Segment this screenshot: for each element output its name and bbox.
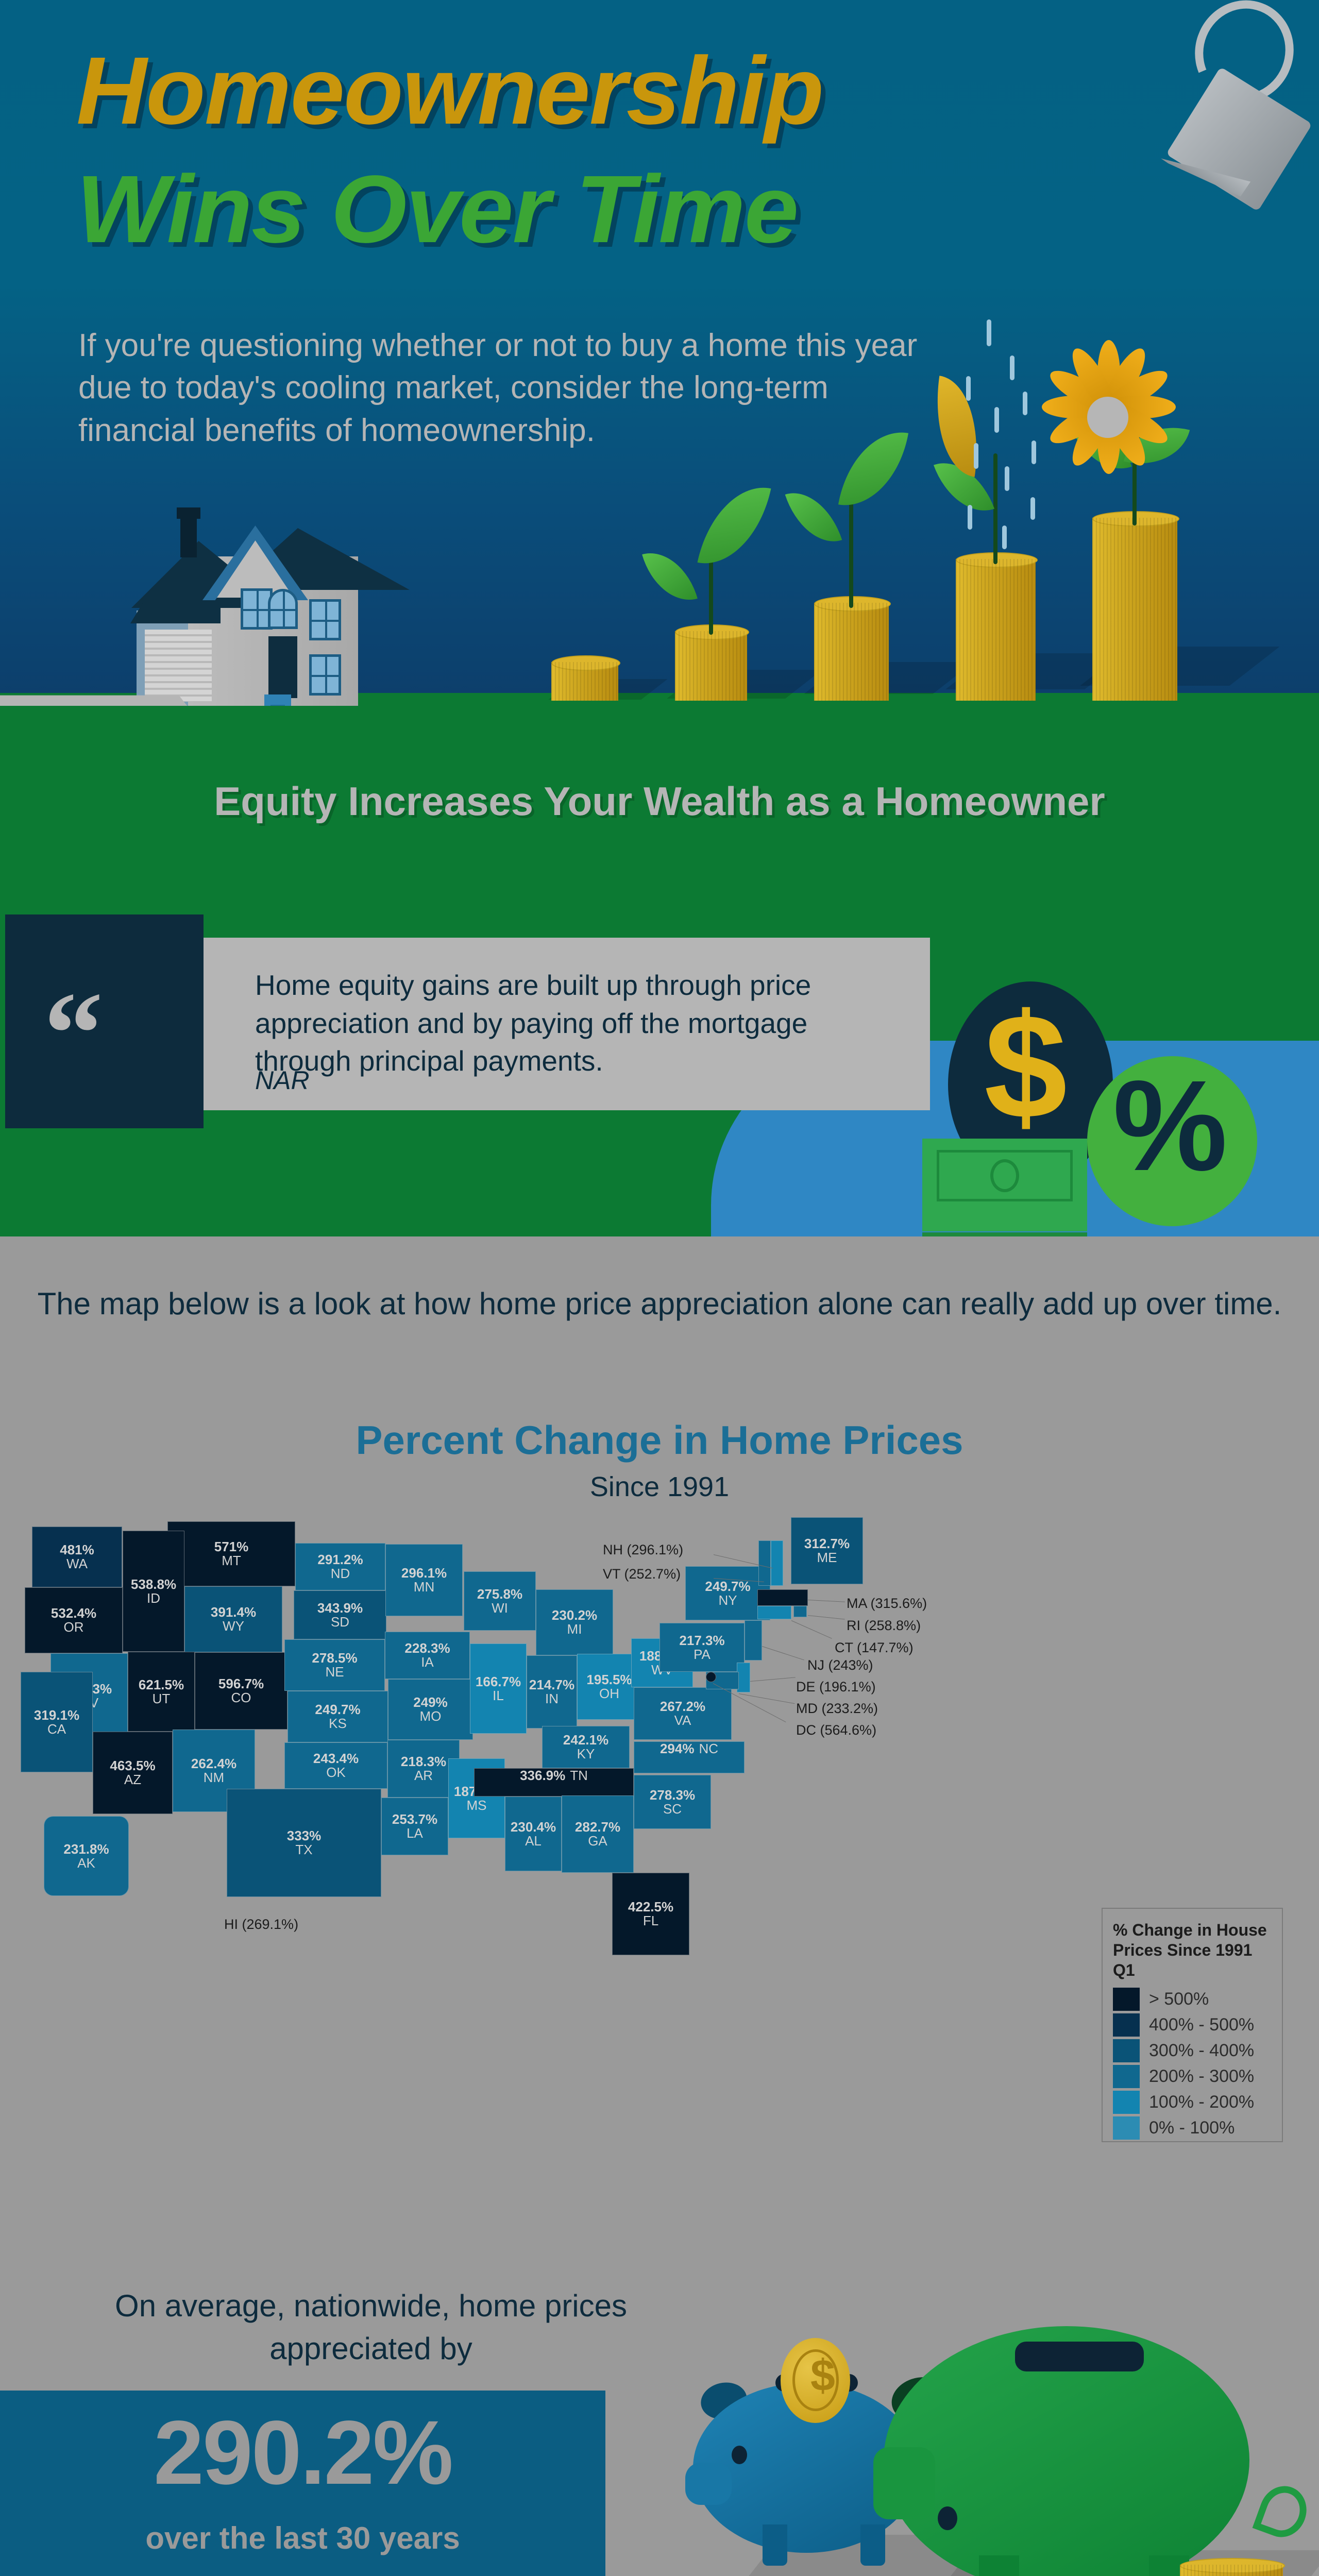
state-abbr: SC bbox=[663, 1802, 682, 1816]
state-value: 312.7% bbox=[804, 1537, 850, 1551]
state-abbr: GA bbox=[588, 1834, 607, 1848]
map-callout-DC: DC (564.6%) bbox=[796, 1722, 876, 1738]
state-value: 275.8% bbox=[477, 1587, 522, 1601]
map-state-OR[interactable]: 532.4% OR bbox=[25, 1587, 123, 1653]
state-value: 319.1% bbox=[34, 1708, 79, 1722]
map-state-IN[interactable]: 214.7% IN bbox=[527, 1655, 577, 1728]
state-abbr: NM bbox=[204, 1771, 224, 1785]
state-abbr: CO bbox=[231, 1691, 251, 1705]
map-state-NC[interactable]: 294% NC bbox=[634, 1741, 745, 1773]
legend-label: > 500% bbox=[1149, 1989, 1209, 2009]
state-value: 231.8% bbox=[63, 1842, 109, 1856]
average-section: On average, nationwide, home prices appr… bbox=[0, 2164, 1319, 2576]
state-abbr: OH bbox=[599, 1687, 619, 1701]
legend-label: 300% - 400% bbox=[1149, 2041, 1254, 2061]
state-value: 481% bbox=[60, 1543, 94, 1557]
state-abbr: MO bbox=[420, 1709, 442, 1723]
map-state-MI[interactable]: 230.2% MI bbox=[536, 1589, 613, 1655]
state-abbr: OK bbox=[326, 1766, 346, 1780]
map-state-CA[interactable]: 319.1% CA bbox=[21, 1672, 93, 1772]
map-callout-VT: VT (252.7%) bbox=[603, 1566, 681, 1582]
house-illustration bbox=[126, 479, 456, 706]
map-callout-CT: CT (147.7%) bbox=[835, 1640, 914, 1656]
map-callout-NJ: NJ (243%) bbox=[807, 1657, 873, 1673]
state-abbr: MS bbox=[467, 1799, 487, 1812]
average-caption: over the last 30 years bbox=[0, 2520, 605, 2556]
state-abbr: IL bbox=[493, 1689, 504, 1703]
map-callout-HI: HI (269.1%) bbox=[224, 1917, 298, 1933]
state-value: 294% bbox=[660, 1742, 695, 1756]
state-value: 166.7% bbox=[476, 1675, 521, 1689]
state-abbr: AL bbox=[525, 1834, 542, 1848]
average-lead-text: On average, nationwide, home prices appr… bbox=[90, 2285, 652, 2370]
legend-label: 400% - 500% bbox=[1149, 2015, 1254, 2035]
state-value: 291.2% bbox=[317, 1553, 363, 1567]
pig-tail bbox=[1253, 2480, 1314, 2544]
state-value: 242.1% bbox=[563, 1733, 608, 1747]
map-state-ND[interactable]: 291.2% ND bbox=[295, 1543, 385, 1590]
map-state-WA[interactable]: 481% WA bbox=[32, 1527, 122, 1587]
state-abbr: ID bbox=[147, 1591, 160, 1605]
map-title: Percent Change in Home Prices bbox=[0, 1417, 1319, 1464]
state-abbr: CA bbox=[47, 1722, 66, 1736]
state-abbr: MT bbox=[222, 1554, 241, 1568]
state-abbr: TX bbox=[295, 1843, 312, 1857]
state-abbr: OR bbox=[64, 1620, 84, 1634]
state-abbr: MN bbox=[414, 1580, 434, 1594]
map-state-KS[interactable]: 249.7% KS bbox=[288, 1691, 388, 1742]
legend-swatch bbox=[1113, 1988, 1140, 2011]
state-abbr: ME bbox=[817, 1551, 837, 1565]
state-value: 571% bbox=[214, 1540, 249, 1554]
state-abbr: KY bbox=[577, 1747, 595, 1761]
map-state-FL[interactable]: 422.5% FL bbox=[612, 1873, 689, 1955]
legend-label: 200% - 300% bbox=[1149, 2066, 1254, 2087]
map-state-SD[interactable]: 343.9% SD bbox=[294, 1590, 386, 1639]
state-abbr: PA bbox=[694, 1648, 711, 1662]
state-value: 343.9% bbox=[317, 1601, 363, 1615]
state-abbr: NY bbox=[718, 1594, 737, 1607]
map-state-OK[interactable]: 243.4% OK bbox=[284, 1742, 387, 1789]
state-abbr: MI bbox=[567, 1622, 582, 1636]
state-value: 333% bbox=[287, 1829, 322, 1843]
quote-mark-panel bbox=[5, 914, 204, 1128]
legend-title: % Change in House Prices Since 1991 Q1 bbox=[1113, 1920, 1272, 1980]
map-state-SC[interactable]: 278.3% SC bbox=[634, 1775, 711, 1829]
state-abbr: WY bbox=[223, 1619, 244, 1633]
map-callout-MA: MA (315.6%) bbox=[847, 1596, 927, 1612]
legend-item: 200% - 300% bbox=[1113, 2065, 1272, 2088]
map-state-WI[interactable]: 275.8% WI bbox=[464, 1571, 536, 1631]
legend-item: 0% - 100% bbox=[1113, 2116, 1272, 2140]
equity-section: Equity Increases Your Wealth as a Homeow… bbox=[0, 706, 1319, 1236]
legend-label: 100% - 200% bbox=[1149, 2092, 1254, 2112]
map-intro-text: The map below is a look at how home pric… bbox=[0, 1283, 1319, 1325]
map-state-RI[interactable] bbox=[793, 1606, 807, 1617]
page-title-line2: Wins Over Time bbox=[76, 155, 798, 264]
state-value: 532.4% bbox=[51, 1606, 96, 1620]
map-state-CT[interactable] bbox=[757, 1606, 791, 1619]
map-state-MN[interactable]: 296.1% MN bbox=[385, 1544, 463, 1616]
legend-swatch bbox=[1113, 2091, 1140, 2114]
map-state-DC[interactable] bbox=[706, 1672, 716, 1682]
map-state-KY[interactable]: 242.1% KY bbox=[542, 1726, 630, 1768]
piggy-bank-illustration: $ bbox=[665, 2195, 1319, 2576]
us-choropleth-map: 481% WA 532.4% OR 571% MT 538.8% ID 391.… bbox=[21, 1517, 1154, 2012]
state-value: 282.7% bbox=[575, 1820, 620, 1834]
state-value: 230.2% bbox=[552, 1608, 597, 1622]
map-state-AL[interactable]: 230.4% AL bbox=[505, 1797, 562, 1871]
legend-label: 0% - 100% bbox=[1149, 2118, 1235, 2138]
map-state-WY[interactable]: 391.4% WY bbox=[184, 1586, 282, 1652]
state-value: 278.5% bbox=[312, 1651, 357, 1665]
map-legend: % Change in House Prices Since 1991 Q1 >… bbox=[1102, 1908, 1283, 2142]
map-state-AK[interactable]: 231.8% AK bbox=[44, 1816, 129, 1896]
state-value: 214.7% bbox=[529, 1678, 574, 1692]
state-abbr: UT bbox=[153, 1692, 171, 1706]
average-highlight-box: 290.2% over the last 30 years bbox=[0, 2391, 605, 2576]
state-value: 463.5% bbox=[110, 1759, 155, 1773]
map-section: The map below is a look at how home pric… bbox=[0, 1236, 1319, 2164]
state-abbr: VA bbox=[674, 1714, 691, 1727]
state-abbr: TN bbox=[570, 1769, 588, 1783]
state-value: 538.8% bbox=[131, 1578, 176, 1591]
legend-swatch bbox=[1113, 2039, 1140, 2062]
map-state-IL[interactable]: 166.7% IL bbox=[470, 1643, 527, 1734]
map-subtitle: Since 1991 bbox=[0, 1471, 1319, 1503]
state-value: 596.7% bbox=[218, 1677, 264, 1691]
state-abbr: WA bbox=[66, 1557, 88, 1571]
legend-item: > 500% bbox=[1113, 1988, 1272, 2011]
map-state-LA[interactable]: 253.7% LA bbox=[381, 1798, 448, 1855]
legend-swatch bbox=[1113, 2013, 1140, 2037]
map-state-AZ[interactable]: 463.5% AZ bbox=[93, 1732, 173, 1814]
map-state-UT[interactable]: 621.5% UT bbox=[128, 1652, 195, 1732]
state-abbr: LA bbox=[407, 1826, 423, 1840]
legend-swatch bbox=[1113, 2065, 1140, 2088]
map-state-NJ[interactable] bbox=[745, 1620, 762, 1660]
state-value: 262.4% bbox=[191, 1757, 236, 1771]
state-abbr: ND bbox=[331, 1567, 350, 1581]
map-state-VA[interactable]: 267.2% VA bbox=[634, 1687, 732, 1740]
state-value: 249.7% bbox=[705, 1580, 750, 1594]
map-callout-RI: RI (258.8%) bbox=[847, 1618, 921, 1634]
state-abbr: NE bbox=[325, 1665, 344, 1679]
map-state-TX[interactable]: 333% TX bbox=[227, 1789, 381, 1897]
state-value: 249% bbox=[413, 1696, 448, 1709]
percent-sign-icon: % bbox=[1113, 1061, 1227, 1190]
state-value: 621.5% bbox=[139, 1678, 184, 1692]
page-subtitle: If you're questioning whether or not to … bbox=[78, 325, 923, 452]
state-abbr: AZ bbox=[124, 1773, 141, 1787]
state-value: 391.4% bbox=[211, 1605, 256, 1619]
state-value: 249.7% bbox=[315, 1703, 360, 1717]
dollar-sign-icon: $ bbox=[984, 992, 1067, 1141]
watering-can-icon bbox=[1149, 0, 1319, 309]
state-abbr: AK bbox=[77, 1856, 95, 1870]
state-abbr: AR bbox=[414, 1769, 433, 1783]
legend-item: 100% - 200% bbox=[1113, 2091, 1272, 2114]
quote-text: Home equity gains are built up through p… bbox=[255, 967, 904, 1080]
state-abbr: KS bbox=[329, 1717, 347, 1731]
state-abbr: FL bbox=[643, 1914, 658, 1928]
quote-source: NAR bbox=[255, 1065, 310, 1095]
map-callout-MD: MD (233.2%) bbox=[796, 1701, 878, 1717]
map-state-CO[interactable]: 596.7% CO bbox=[195, 1652, 288, 1730]
map-state-MO[interactable]: 249% MO bbox=[388, 1679, 473, 1740]
state-value: 230.4% bbox=[511, 1820, 556, 1834]
state-value: 243.4% bbox=[313, 1752, 359, 1766]
state-abbr: IA bbox=[421, 1655, 434, 1669]
map-state-NE[interactable]: 278.5% NE bbox=[284, 1639, 385, 1691]
state-value: 296.1% bbox=[401, 1566, 447, 1580]
state-value: 217.3% bbox=[679, 1634, 724, 1648]
map-callout-NH: NH (296.1%) bbox=[603, 1542, 683, 1558]
map-state-VT[interactable] bbox=[758, 1540, 771, 1586]
quote-icon: “ bbox=[44, 1010, 103, 1057]
map-state-IA[interactable]: 228.3% IA bbox=[385, 1632, 470, 1679]
map-state-GA[interactable]: 282.7% GA bbox=[562, 1795, 634, 1873]
state-value: 218.3% bbox=[401, 1755, 446, 1769]
map-state-MA[interactable] bbox=[757, 1589, 808, 1606]
map-state-ID[interactable]: 538.8% ID bbox=[123, 1531, 184, 1652]
average-value: 290.2% bbox=[0, 2401, 605, 2505]
equity-heading: Equity Increases Your Wealth as a Homeow… bbox=[0, 778, 1319, 825]
page-title-line1: Homeownership bbox=[76, 36, 823, 146]
map-state-MT[interactable]: 571% MT bbox=[167, 1521, 295, 1586]
state-abbr: IN bbox=[545, 1692, 559, 1706]
map-state-NH[interactable] bbox=[771, 1540, 783, 1586]
map-state-PA[interactable]: 217.3% PA bbox=[659, 1623, 745, 1672]
map-state-TN[interactable]: 336.9% TN bbox=[474, 1768, 634, 1797]
state-value: 228.3% bbox=[404, 1641, 450, 1655]
legend-item: 400% - 500% bbox=[1113, 2013, 1272, 2037]
state-value: 195.5% bbox=[586, 1673, 632, 1687]
sunflower-icon bbox=[1025, 340, 1190, 495]
state-value: 278.3% bbox=[650, 1788, 695, 1802]
map-state-ME[interactable]: 312.7% ME bbox=[791, 1517, 863, 1584]
state-value: 336.9% bbox=[520, 1769, 565, 1783]
quote-panel: Home equity gains are built up through p… bbox=[204, 938, 930, 1110]
state-abbr: SD bbox=[331, 1615, 349, 1629]
state-abbr: NC bbox=[699, 1742, 718, 1756]
legend-swatch bbox=[1113, 2116, 1140, 2140]
map-callout-DE: DE (196.1%) bbox=[796, 1679, 876, 1695]
state-value: 422.5% bbox=[628, 1900, 673, 1914]
state-abbr: WI bbox=[492, 1601, 508, 1615]
state-value: 253.7% bbox=[392, 1812, 437, 1826]
hero-section: Homeownership Wins Over Time If you're q… bbox=[0, 0, 1319, 706]
state-value: 267.2% bbox=[660, 1700, 705, 1714]
legend-item: 300% - 400% bbox=[1113, 2039, 1272, 2062]
